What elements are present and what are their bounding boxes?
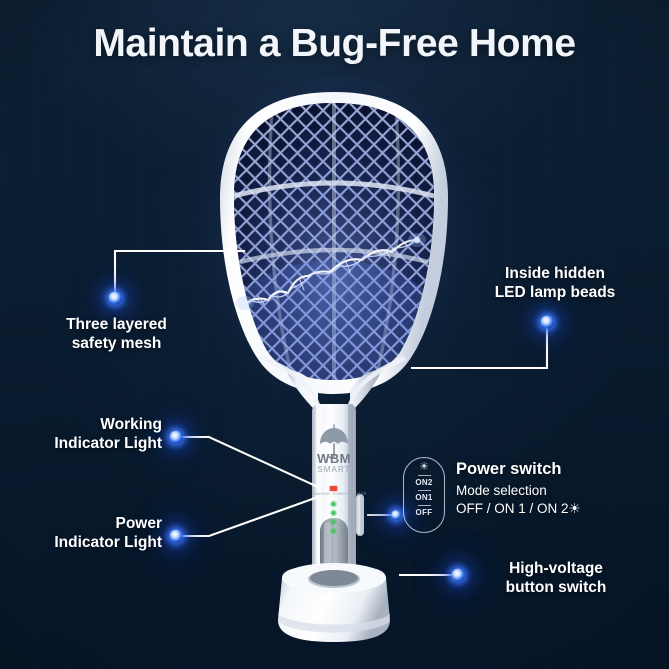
bulb-icon: ☀ bbox=[419, 462, 429, 472]
leader-working bbox=[176, 437, 318, 487]
three-layer-mesh bbox=[220, 95, 450, 400]
switch-divider bbox=[418, 490, 431, 491]
sun-icon: ☀ bbox=[569, 501, 581, 516]
brand-wordmark: WBM SMART bbox=[312, 452, 356, 474]
handle-body bbox=[312, 404, 356, 594]
callout-label-mesh: Three layered safety mesh bbox=[24, 315, 209, 354]
callout-high-voltage-line1: High-voltage bbox=[458, 559, 654, 578]
callout-dot-power-switch[interactable] bbox=[391, 510, 401, 520]
infographic-canvas: Maintain a Bug-Free Home bbox=[0, 0, 669, 669]
callout-mesh-line1: Three layered bbox=[24, 315, 209, 334]
callout-power-light-line1: Power bbox=[10, 514, 162, 533]
callout-mesh-line2: safety mesh bbox=[24, 334, 209, 353]
callout-power-switch-sub1: Mode selection bbox=[456, 482, 666, 500]
callout-working-line1: Working bbox=[10, 415, 162, 434]
working-indicator-leds bbox=[331, 502, 335, 533]
switch-divider bbox=[418, 475, 431, 476]
switch-position-on1: ON1 bbox=[415, 493, 432, 503]
leader-led bbox=[412, 322, 547, 368]
callout-label-power-light: Power Indicator Light bbox=[10, 514, 162, 553]
electric-arc bbox=[236, 233, 426, 310]
racket-rim bbox=[220, 92, 448, 394]
callout-dot-working[interactable] bbox=[170, 431, 183, 444]
callout-power-switch-sub2-wrap: OFF / ON 1 / ON 2☀ bbox=[456, 500, 666, 518]
handle-microtext: CHARGING POWER INDICATOR bbox=[312, 492, 356, 496]
handle-grip bbox=[320, 518, 348, 604]
callout-power-light-line2: Indicator Light bbox=[10, 533, 162, 552]
brand-name: WBM bbox=[312, 452, 356, 465]
callout-power-switch-sub2: OFF / ON 1 / ON 2 bbox=[456, 501, 569, 516]
switch-position-on2: ON2 bbox=[415, 478, 432, 488]
callout-label-power-switch: Power switch Mode selection OFF / ON 1 /… bbox=[456, 459, 666, 518]
callout-dot-power-light[interactable] bbox=[170, 530, 183, 543]
high-voltage-button bbox=[356, 494, 364, 536]
callout-dot-led[interactable] bbox=[541, 316, 554, 329]
switch-divider bbox=[418, 505, 431, 506]
switch-position-off: OFF bbox=[416, 508, 433, 518]
callout-label-led: Inside hidden LED lamp beads bbox=[455, 264, 655, 303]
callout-led-line2: LED lamp beads bbox=[455, 283, 655, 302]
leader-mesh bbox=[115, 251, 244, 298]
power-switch-diagram[interactable]: ☀ ON2 ON1 OFF bbox=[403, 457, 445, 533]
callout-label-working: Working Indicator Light bbox=[10, 415, 162, 454]
leader-power-light bbox=[176, 497, 318, 536]
callout-dot-mesh[interactable] bbox=[109, 292, 122, 305]
callout-high-voltage-line2: button switch bbox=[458, 578, 654, 597]
charging-base bbox=[278, 568, 390, 642]
page-title: Maintain a Bug-Free Home bbox=[0, 22, 669, 66]
power-indicator-led bbox=[330, 486, 337, 491]
callout-power-switch-title: Power switch bbox=[456, 459, 666, 480]
callout-label-high-voltage: High-voltage button switch bbox=[458, 559, 654, 598]
brand-subname: SMART bbox=[312, 466, 356, 474]
racket-neck bbox=[285, 368, 383, 414]
callout-working-line2: Indicator Light bbox=[10, 434, 162, 453]
callout-led-line1: Inside hidden bbox=[455, 264, 655, 283]
